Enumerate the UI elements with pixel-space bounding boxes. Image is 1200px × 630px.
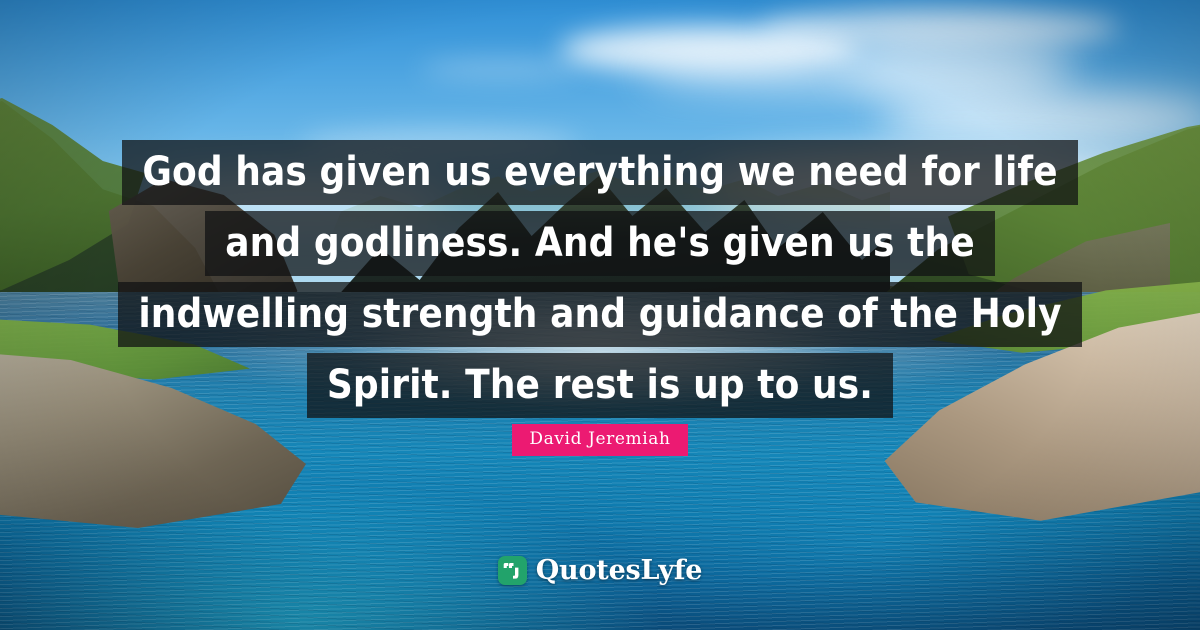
quote-marks-icon [498, 556, 527, 585]
quote-line-4: Spirit. The rest is up to us. [307, 353, 893, 418]
brand-logo[interactable]: QuotesLyfe [0, 556, 1200, 585]
quote-line-2: and godliness. And he's given us the [205, 211, 994, 276]
brand-name: QuotesLyfe [536, 557, 703, 584]
quote-text-block: God has given us everything we need for … [0, 140, 1200, 424]
author-name-badge[interactable]: David Jeremiah [512, 424, 687, 456]
author-badge-wrap: David Jeremiah [0, 424, 1200, 456]
quote-line-3: indwelling strength and guidance of the … [118, 282, 1081, 347]
quote-image-card: God has given us everything we need for … [0, 0, 1200, 630]
quote-line-1: God has given us everything we need for … [122, 140, 1077, 205]
